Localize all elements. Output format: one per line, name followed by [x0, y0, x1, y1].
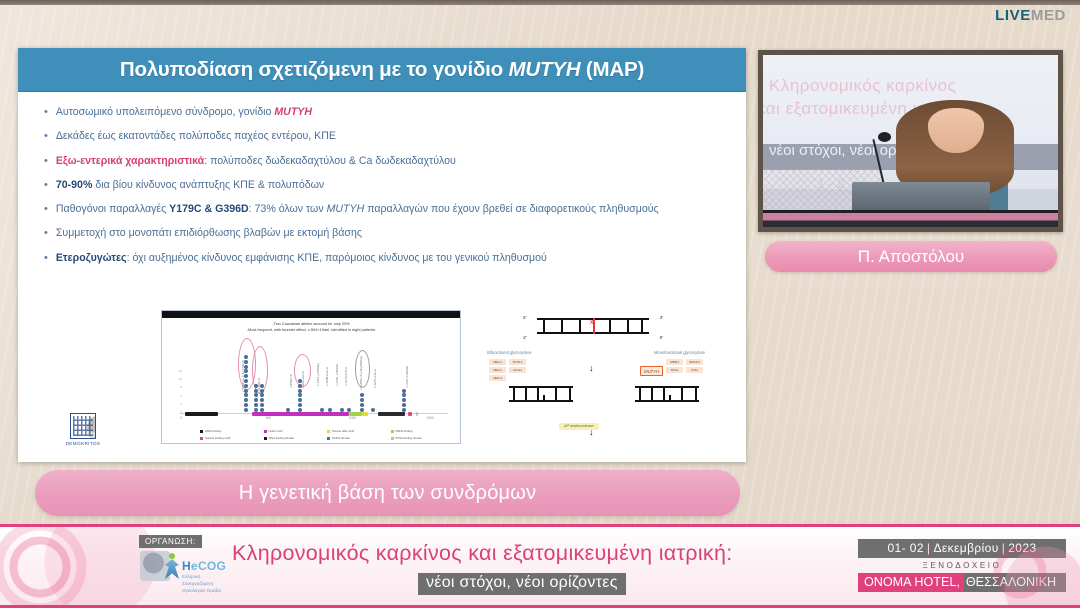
- enzyme-box: NEIL1: [489, 359, 506, 365]
- legend-entry: Nuclear binding motif: [200, 435, 260, 441]
- speaker-video-frame[interactable]: Κληρονομικός καρκίνος και εξατομικευμένη…: [758, 50, 1063, 232]
- conference-date: 01- 02|Δεκεμβρίου|2023: [858, 539, 1066, 558]
- dna-rung: [579, 318, 581, 334]
- slide-section-caption-text: Η γενετική βάση των συνδρόμων: [239, 482, 537, 505]
- mutyh-enzyme-box: MUTYH: [640, 366, 663, 376]
- enzyme-box: SMUG1: [686, 359, 703, 365]
- venue-name: ΟΝΟΜΑ HOTEL,: [858, 573, 964, 592]
- bullet-gene: MUTYH: [274, 106, 312, 118]
- dna-rung: [639, 386, 641, 402]
- bullet-text: Εξω-εντερικά χαρακτηριστικά: πολύποδες δ…: [56, 155, 456, 168]
- strand-label-3prime: 3': [660, 315, 663, 320]
- legend-label: AP£1 binding domain: [269, 437, 295, 440]
- bullet-strong: 70-90%: [56, 179, 93, 191]
- legend-entry: APE1 binding: [200, 428, 260, 434]
- dna-rung: [609, 318, 611, 334]
- legend-label: PCNA binding domain: [396, 437, 422, 440]
- variant-label: c.1227_1228dup: [316, 363, 320, 386]
- conference-date-venue-block: 01- 02|Δεκεμβρίου|2023 ΞΕΝΟΔΟΧΕΙΟ ΟΝΟΜΑ …: [858, 539, 1066, 592]
- date-month: Δεκεμβρίου: [933, 541, 998, 555]
- down-arrow-icon: ↓: [589, 364, 594, 373]
- dna-duplex: X: [537, 318, 649, 334]
- bullet-dot-icon: •: [44, 227, 48, 241]
- dna-duplex-right: [635, 386, 699, 402]
- legend-entry: Linker motif: [264, 428, 324, 434]
- dna-rung: [695, 386, 697, 402]
- enzyme-box: NTHL1: [509, 359, 526, 365]
- laptop: [852, 182, 991, 210]
- variant-label: c.1088+1G>A: [325, 367, 329, 386]
- dna-rung: [681, 386, 683, 402]
- livemed-med-text: MED: [1031, 7, 1066, 24]
- bullet-plain-mid: : 73% όλων των: [249, 203, 327, 215]
- bifunctional-glycosylase-title: Bifunctional glycosylase: [487, 350, 531, 355]
- variant-label: c.1437_1439del: [335, 364, 339, 386]
- legend-label: NUDIX domain: [332, 437, 350, 440]
- venue-row: ΟΝΟΜΑ HOTEL,ΘΕΣΣΑΛΟΝΙΚΗ: [858, 573, 1066, 592]
- demokritos-label: DEMOKRITOS: [59, 441, 107, 446]
- variant-stack: [244, 355, 248, 412]
- chart-legend: APE1 binding Linker motif Pseudo HhH mot…: [200, 428, 450, 444]
- variant-stack: [360, 393, 364, 411]
- livemed-live-text: LIVE: [995, 7, 1031, 24]
- dna-rail: [635, 386, 699, 388]
- bullet-dot-icon: •: [44, 203, 48, 217]
- bullet-item: • Ετεροζυγώτες: όχι αυξημένος κίνδυνος ε…: [44, 252, 724, 266]
- enzyme-box: OGG1: [509, 367, 526, 373]
- dna-rail: [509, 400, 573, 402]
- legend-entry: MSH6 binding: [391, 428, 451, 434]
- hecog-subtitle: Ελληνική Συνεργαζόμενη Ογκολογική Ομάδα: [182, 573, 221, 594]
- date-days: 01- 02: [887, 541, 923, 555]
- enzyme-box: NEIL2: [489, 367, 506, 373]
- slide-title-main: Πολυποδίαση σχετιζόμενη με το γονίδιο: [120, 58, 509, 81]
- bullet-text: Δεκάδες έως εκατοντάδες πολύποδες παχέος…: [56, 130, 336, 143]
- app-root: LIVEMED Πολυποδίαση σχετιζόμενη με το γο…: [0, 0, 1080, 608]
- bullet-text: Ετεροζυγώτες: όχι αυξημένος κίνδυνος εμφ…: [56, 252, 547, 265]
- variant-stack: [260, 384, 264, 412]
- chart-top-bar: [162, 311, 460, 318]
- bullet-plain: : όχι αυξημένος κίνδυνος εμφάνισης ΚΠΕ, …: [127, 252, 547, 264]
- slide-title-bar: Πολυποδίαση σχετιζόμενη με το γονίδιο MU…: [18, 48, 746, 92]
- demokritos-bust-icon: [87, 416, 96, 439]
- bullet-dot-icon: •: [44, 179, 48, 193]
- bullet-plain: Παθογόνοι παραλλαγές: [56, 203, 169, 215]
- demokritos-mark-icon: [70, 413, 96, 439]
- hecog-name-rest: eCOG: [191, 559, 226, 573]
- dna-rail: [635, 400, 699, 402]
- variant-stack: [298, 379, 302, 412]
- dna-nick: [543, 395, 545, 402]
- hecog-sub-line3: Ογκολογική Ομάδα: [182, 587, 221, 594]
- bullet-plain-after: παραλλαγών που έχουν βρεθεί σε διαφορετι…: [364, 203, 658, 215]
- y-tick: 4: [172, 403, 182, 406]
- legend-label: Pseudo HhH motif: [332, 430, 354, 433]
- legend-entry: PCNA binding domain: [391, 435, 451, 441]
- variant-label: c.1476+2T>A: [344, 367, 348, 386]
- slide-section-caption: Η γενετική βάση των συνδρόμων: [35, 470, 740, 516]
- video-slide-line1: Κληρονομικός καρκίνος: [769, 76, 1058, 96]
- slide-figure-area: DEMOKRITOS -Two Caucasian alleles accoun…: [51, 310, 713, 450]
- strand-label-5prime: 5': [523, 315, 526, 320]
- enzyme-box: NEIL3: [489, 375, 506, 381]
- chart-note: -Two Caucasian alleles account for only …: [162, 318, 460, 333]
- bullet-dot-icon: •: [44, 252, 48, 266]
- bullet-highlight: Εξω-εντερικά χαρακτηριστικά: [56, 155, 204, 167]
- bullet-text: Παθογόνοι παραλλαγές Y179C & G396D: 73% …: [56, 203, 659, 216]
- legend-entry: AP£1 binding domain: [264, 435, 324, 441]
- bullet-gene: MUTYH: [327, 203, 365, 215]
- legend-label: MSH6 binding: [396, 430, 413, 433]
- variant-stack: [402, 389, 406, 412]
- chart-y-axis: 12 10 8 6 4 2: [172, 370, 182, 412]
- bullet-plain: δια βίου κίνδυνος ανάπτυξης ΚΠΕ & πολυπό…: [92, 179, 324, 191]
- bullet-item: • Εξω-εντερικά χαρακτηριστικά: πολύποδες…: [44, 155, 724, 169]
- top-strip: [0, 0, 1080, 5]
- legend-label: APE1 binding: [205, 430, 221, 433]
- dna-duplex-left: [509, 386, 573, 402]
- bullet-item: • Αυτοσωμικό υπολειπόμενο σύνδρομο, γονί…: [44, 106, 724, 120]
- organizer-tag: ΟΡΓΑΝΩΣΗ:: [139, 535, 202, 548]
- dna-rung: [663, 386, 665, 402]
- x-tick: 1000: [349, 416, 356, 420]
- dna-rung: [641, 318, 643, 334]
- x-tick: 0: [180, 416, 182, 420]
- podium: [763, 210, 1058, 227]
- bullet-dot-icon: •: [44, 106, 48, 120]
- chart-x-axis: 0 500 1000 1500: [180, 416, 448, 422]
- legend-label: Nuclear binding motif: [205, 437, 230, 440]
- bullet-text: 70-90% δια βίου κίνδυνος ανάπτυξης ΚΠΕ &…: [56, 179, 324, 192]
- monofunctional-glycosylase-title: Monofunctional glycosylase: [654, 350, 705, 355]
- video-slide-year: 1-2: [817, 175, 849, 191]
- legend-label: Linker motif: [269, 430, 283, 433]
- dna-rail: [509, 386, 573, 388]
- dna-rung: [543, 318, 545, 334]
- bullet-plain: Αυτοσωμικό υπολειπόμενο σύνδρομο, γονίδι…: [56, 106, 274, 118]
- variant-label: c.1187+1G>A: [373, 369, 377, 388]
- dna-nick: [669, 395, 671, 402]
- y-tick: 8: [172, 386, 182, 389]
- hecog-sub-line1: Ελληνική: [182, 573, 221, 580]
- bullet-strong: Ετεροζυγώτες: [56, 252, 127, 264]
- venue-city: ΘΕΣΣΑΛΟΝΙΚΗ: [964, 573, 1066, 592]
- bullet-item: • Παθογόνοι παραλλαγές Y179C & G396D: 73…: [44, 203, 724, 217]
- slide-title-tail: (MAP): [580, 58, 644, 81]
- bullet-text: Συμμετοχή στο μονοπάτι επιδιόρθωσης βλαβ…: [56, 227, 362, 240]
- conference-subtitle: νέοι στόχοι, νέοι ορίζοντες: [418, 573, 626, 595]
- variant-label: c.1187G>A p.Gly396Asp: [359, 356, 363, 390]
- bullet-plain: : πολύποδες δωδεκαδαχτύλου & Ca δωδεκαδα…: [204, 155, 456, 167]
- x-tick: 500: [266, 416, 271, 420]
- presentation-slide[interactable]: Πολυποδίαση σχετιζόμενη με το γονίδιο MU…: [18, 48, 746, 462]
- lollipop-chart: -Two Caucasian alleles account for only …: [161, 310, 461, 444]
- hecog-name-bold: H: [182, 559, 191, 573]
- legend-entry: NUDIX domain: [327, 435, 387, 441]
- bullet-item: • Συμμετοχή στο μονοπάτι επιδιόρθωσης βλ…: [44, 227, 724, 241]
- hecog-name: HeCOG: [182, 559, 226, 573]
- dna-rung: [555, 386, 557, 402]
- y-tick: 6: [172, 395, 182, 398]
- strand-label-5prime: 5': [660, 335, 663, 340]
- livemed-logo: LIVEMED: [995, 7, 1066, 24]
- conference-title: Κληρονομικός καρκίνος και εξατομικευμένη…: [232, 541, 732, 566]
- bullet-strong: Y179C & G396D: [169, 203, 249, 215]
- chart-plot: 12 10 8 6 4 2 c.536A>G p.Tyr179Cys c.114…: [162, 334, 460, 426]
- dna-rung: [627, 318, 629, 334]
- legend-entry: Pseudo HhH motif: [327, 428, 387, 434]
- x-tick: 1500: [427, 416, 434, 420]
- variant-label: c.1437-1439del: [405, 366, 409, 387]
- chart-note-line2: -Most frequent, with founder effect, c.5…: [176, 327, 446, 333]
- enzyme-box: UNG: [686, 367, 703, 373]
- dna-rung: [569, 386, 571, 402]
- venue-label: ΞΕΝΟΔΟΧΕΙΟ: [858, 561, 1066, 570]
- bullet-item: • Δεκάδες έως εκατοντάδες πολύποδες παχέ…: [44, 130, 724, 144]
- speaker-name-badge: Π. Αποστόλου: [765, 241, 1057, 272]
- speaker-video[interactable]: Κληρονομικός καρκίνος και εξατομικευμένη…: [763, 55, 1058, 227]
- speaker-name-text: Π. Αποστόλου: [858, 247, 964, 267]
- demokritos-logo: DEMOKRITOS: [59, 413, 107, 446]
- dna-rung: [513, 386, 515, 402]
- slide-title-text: Πολυποδίαση σχετιζόμενη με το γονίδιο MU…: [120, 58, 644, 82]
- ber-mechanism-diagram: 5' 3' 3' 5' X: [475, 312, 713, 444]
- bullet-item: • 70-90% δια βίου κίνδυνος ανάπτυξης ΚΠΕ…: [44, 179, 724, 193]
- hecog-sub-line2: Συνεργαζόμενη: [182, 580, 221, 587]
- dna-rung: [525, 386, 527, 402]
- dna-rung: [537, 386, 539, 402]
- date-year: 2023: [1008, 541, 1036, 555]
- bullet-text: Αυτοσωμικό υπολειπόμενο σύνδρομο, γονίδι…: [56, 106, 312, 119]
- conference-footer-banner: ΟΡΓΑΝΩΣΗ: HeCOG Ελληνική Συνεργαζόμενη Ο…: [0, 524, 1080, 608]
- dna-rung: [651, 386, 653, 402]
- variant-stack: [254, 384, 258, 412]
- down-arrow-icon: ↓: [589, 428, 594, 437]
- dna-rung: [561, 318, 563, 334]
- y-tick: 12: [172, 370, 182, 373]
- lesion-mark: X: [590, 320, 593, 326]
- strand-label-3prime: 3': [523, 335, 526, 340]
- bullet-dot-icon: •: [44, 155, 48, 169]
- slide-bullet-list: • Αυτοσωμικό υπολειπόμενο σύνδρομο, γονί…: [18, 92, 746, 265]
- hecog-figure-icon: [164, 553, 180, 581]
- variant-label: c.850G>C: [289, 374, 293, 388]
- bullet-dot-icon: •: [44, 130, 48, 144]
- slide-title-gene: MUTYH: [509, 58, 581, 81]
- enzyme-box: MBD4: [666, 359, 683, 365]
- y-tick: 10: [172, 378, 182, 381]
- enzyme-box: TDG1: [666, 367, 683, 373]
